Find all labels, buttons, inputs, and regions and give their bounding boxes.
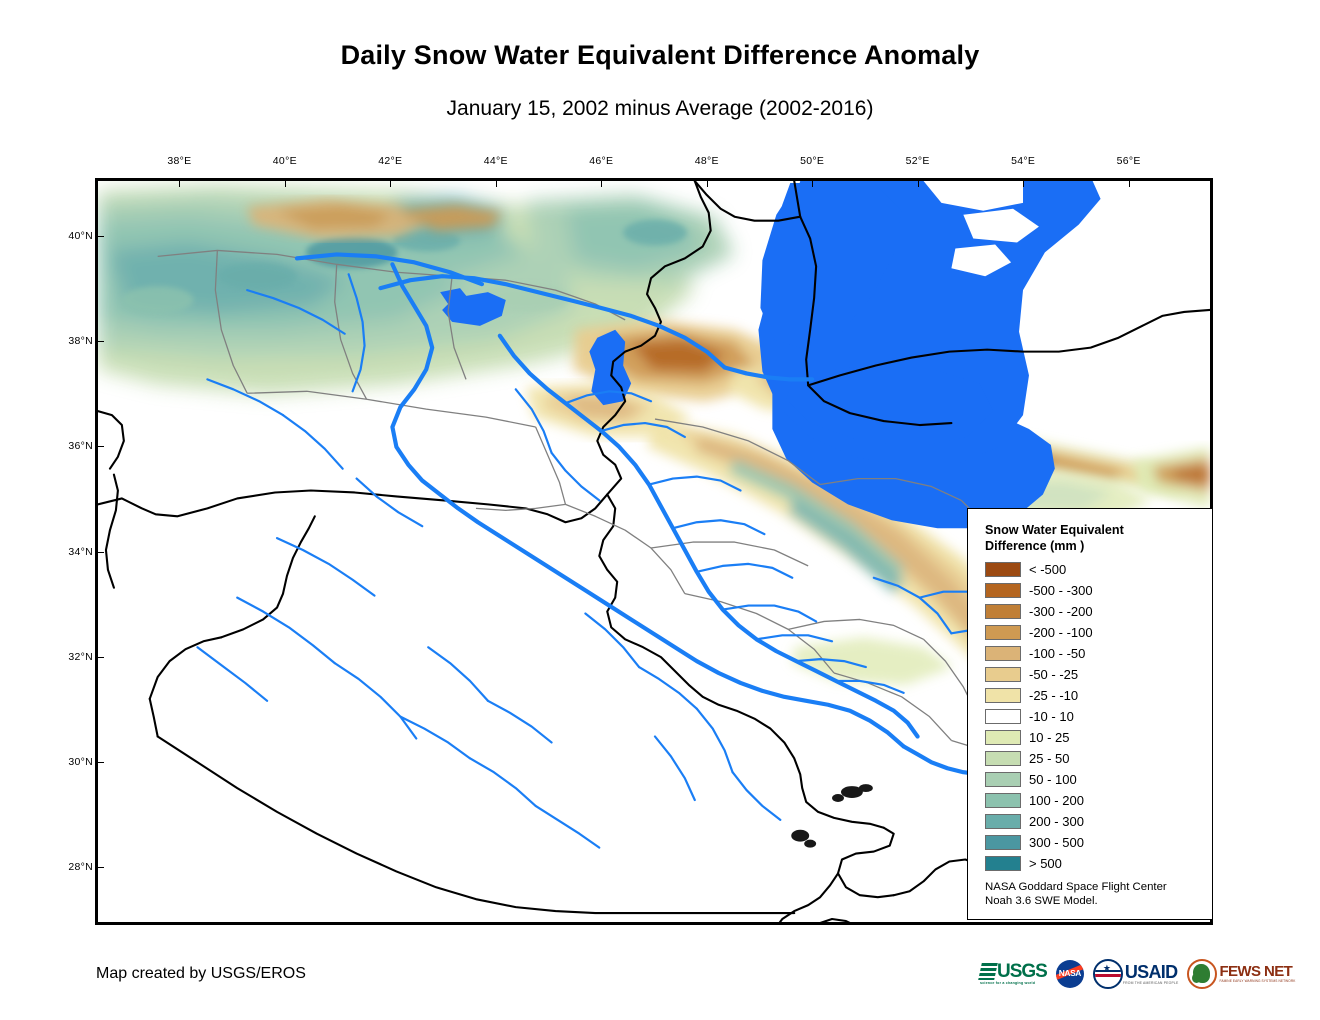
nasa-meatball-icon: NASA xyxy=(1056,960,1084,988)
nasa-logo[interactable]: NASA xyxy=(1056,959,1084,989)
usgs-wordmark: USGS xyxy=(997,962,1047,981)
legend-item: 100 - 200 xyxy=(985,790,1212,811)
legend-label: 300 - 500 xyxy=(1029,835,1084,850)
legend-item: 10 - 25 xyxy=(985,727,1212,748)
fews-net-logo[interactable]: FEWS NET FAMINE EARLY WARNING SYSTEMS NE… xyxy=(1187,959,1295,989)
legend-label: -500 - -300 xyxy=(1029,583,1093,598)
usaid-seal-icon: ★ xyxy=(1093,959,1123,989)
legend-label: 10 - 25 xyxy=(1029,730,1069,745)
lon-tick-label: 38°E xyxy=(167,155,191,167)
lat-tick-mark xyxy=(95,552,104,553)
lon-tick-mark xyxy=(390,178,391,187)
fews-globe-icon xyxy=(1187,959,1217,989)
lon-tick-mark xyxy=(812,178,813,187)
legend-swatch xyxy=(985,814,1021,829)
lat-tick-label: 34°N xyxy=(49,546,93,558)
lon-tick-mark xyxy=(496,178,497,187)
legend-swatch xyxy=(985,730,1021,745)
legend-label: -200 - -100 xyxy=(1029,625,1093,640)
legend-label: -100 - -50 xyxy=(1029,646,1085,661)
lon-tick-mark xyxy=(601,178,602,187)
lat-tick-label: 32°N xyxy=(49,651,93,663)
legend-swatch xyxy=(985,793,1021,808)
map-credit: Map created by USGS/EROS xyxy=(96,965,306,983)
lon-tick-label: 54°E xyxy=(1011,155,1035,167)
lon-tick-mark xyxy=(707,178,708,187)
legend-item: 300 - 500 xyxy=(985,832,1212,853)
legend-item: 25 - 50 xyxy=(985,748,1212,769)
lat-tick-label: 36°N xyxy=(49,440,93,452)
legend-swatch xyxy=(985,583,1021,598)
legend-swatch xyxy=(985,688,1021,703)
legend-item: -300 - -200 xyxy=(985,601,1212,622)
legend-swatch xyxy=(985,772,1021,787)
usgs-tagline: science for a changing world xyxy=(980,982,1035,986)
lon-tick-mark xyxy=(285,178,286,187)
legend-label: -25 - -10 xyxy=(1029,688,1078,703)
legend-item: -500 - -300 xyxy=(985,580,1212,601)
lon-tick-label: 48°E xyxy=(695,155,719,167)
legend-swatch xyxy=(985,835,1021,850)
legend-item-list: < -500-500 - -300-300 - -200-200 - -100-… xyxy=(985,559,1212,874)
legend-label: < -500 xyxy=(1029,562,1066,577)
legend-title: Snow Water Equivalent Difference (mm ) xyxy=(985,522,1165,554)
legend-swatch xyxy=(985,709,1021,724)
fews-tagline: FAMINE EARLY WARNING SYSTEMS NETWORK xyxy=(1219,980,1295,983)
legend-swatch xyxy=(985,562,1021,577)
legend-swatch xyxy=(985,751,1021,766)
legend-item: -10 - 10 xyxy=(985,706,1212,727)
lat-tick-mark xyxy=(95,657,104,658)
lon-tick-mark xyxy=(1023,178,1024,187)
legend-swatch xyxy=(985,667,1021,682)
legend-item: < -500 xyxy=(985,559,1212,580)
legend-label: 200 - 300 xyxy=(1029,814,1084,829)
legend-label: 100 - 200 xyxy=(1029,793,1084,808)
lon-tick-label: 42°E xyxy=(378,155,402,167)
lat-tick-mark xyxy=(95,867,104,868)
legend-label: 50 - 100 xyxy=(1029,772,1077,787)
lat-tick-mark xyxy=(95,446,104,447)
legend-item: 200 - 300 xyxy=(985,811,1212,832)
lon-tick-mark xyxy=(179,178,180,187)
legend-label: > 500 xyxy=(1029,856,1062,871)
legend-swatch xyxy=(985,604,1021,619)
legend-label: -300 - -200 xyxy=(1029,604,1093,619)
lat-tick-label: 30°N xyxy=(49,756,93,768)
lon-tick-label: 40°E xyxy=(273,155,297,167)
lon-tick-mark xyxy=(1129,178,1130,187)
lat-tick-mark xyxy=(95,762,104,763)
usaid-wordmark: USAID xyxy=(1125,963,1179,981)
lat-tick-mark xyxy=(95,236,104,237)
agency-logo-row: USGS science for a changing world NASA ★… xyxy=(980,956,1295,992)
legend-item: -200 - -100 xyxy=(985,622,1212,643)
page-title: Daily Snow Water Equivalent Difference A… xyxy=(0,40,1320,71)
lat-tick-mark xyxy=(95,341,104,342)
lat-tick-label: 40°N xyxy=(49,230,93,242)
legend-swatch xyxy=(985,856,1021,871)
map-legend[interactable]: Snow Water Equivalent Difference (mm ) <… xyxy=(967,508,1213,920)
lon-tick-label: 50°E xyxy=(800,155,824,167)
legend-source-note: NASA Goddard Space Flight Center Noah 3.… xyxy=(985,881,1167,908)
usaid-logo[interactable]: ★ USAID FROM THE AMERICAN PEOPLE xyxy=(1093,959,1179,989)
lat-tick-label: 38°N xyxy=(49,335,93,347)
legend-item: -100 - -50 xyxy=(985,643,1212,664)
lon-tick-label: 44°E xyxy=(484,155,508,167)
lon-tick-mark xyxy=(918,178,919,187)
legend-item: 50 - 100 xyxy=(985,769,1212,790)
page-subtitle: January 15, 2002 minus Average (2002-201… xyxy=(0,97,1320,121)
legend-label: -10 - 10 xyxy=(1029,709,1074,724)
lon-tick-label: 46°E xyxy=(589,155,613,167)
legend-item: -25 - -10 xyxy=(985,685,1212,706)
lon-tick-label: 56°E xyxy=(1117,155,1141,167)
fews-wordmark: FEWS NET xyxy=(1219,964,1295,979)
nasa-wordmark: NASA xyxy=(1056,968,1084,978)
usaid-tagline: FROM THE AMERICAN PEOPLE xyxy=(1123,982,1179,985)
lon-tick-label: 52°E xyxy=(906,155,930,167)
usgs-wave-icon xyxy=(978,963,998,980)
legend-swatch xyxy=(985,646,1021,661)
legend-item: > 500 xyxy=(985,853,1212,874)
legend-swatch xyxy=(985,625,1021,640)
usgs-logo[interactable]: USGS science for a changing world xyxy=(980,959,1047,989)
lat-tick-label: 28°N xyxy=(49,861,93,873)
legend-label: 25 - 50 xyxy=(1029,751,1069,766)
legend-label: -50 - -25 xyxy=(1029,667,1078,682)
legend-item: -50 - -25 xyxy=(985,664,1212,685)
